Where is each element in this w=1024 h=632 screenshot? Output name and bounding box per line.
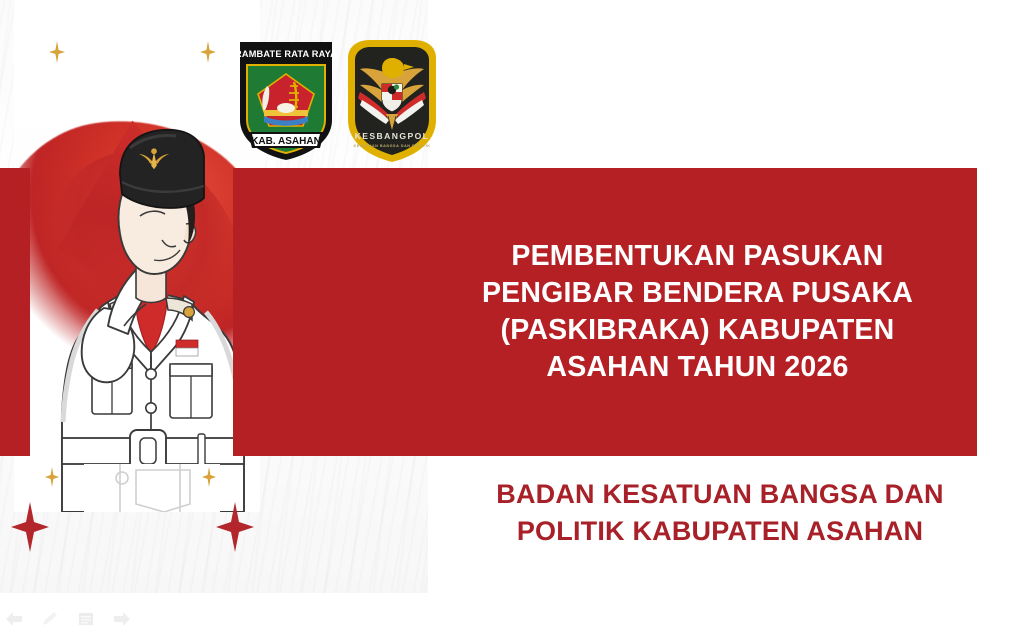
kesbangpol-emblem: KESBANGPOL KESATUAN BANGSA DAN POLITIK xyxy=(344,36,440,164)
title-line-3: (PASKIBRAKA) KABUPATEN xyxy=(418,312,977,349)
title-line-1: PEMBENTUKAN PASUKAN xyxy=(418,238,977,275)
forward-arrow-icon[interactable] xyxy=(112,609,132,629)
poster-subtitle: BADAN KESATUAN BANGSA DAN POLITIK KABUPA… xyxy=(440,476,1000,551)
back-arrow-icon[interactable] xyxy=(4,609,24,629)
left-red-accent-bar xyxy=(0,168,30,456)
subtitle-line-2: POLITIK KABUPATEN ASAHAN xyxy=(440,513,1000,550)
kesbangpol-label-text: KESBANGPOL xyxy=(355,131,430,141)
title-line-2: PENGIBAR BENDERA PUSAKA xyxy=(418,275,977,312)
paskibraka-saluting-figure xyxy=(58,112,248,512)
title-line-4: ASAHAN TAHUN 2026 xyxy=(418,349,977,386)
kesbangpol-tagline-text: KESATUAN BANGSA DAN POLITIK xyxy=(354,144,431,148)
poster-title: PEMBENTUKAN PASUKAN PENGIBAR BENDERA PUS… xyxy=(418,238,977,386)
poster-canvas: RAMBATE RATA RAYA KAB. ASAHAN xyxy=(0,0,1024,632)
bottom-toolbar[interactable] xyxy=(4,606,132,632)
kab-asahan-emblem: RAMBATE RATA RAYA KAB. ASAHAN xyxy=(234,36,338,164)
pencil-edit-icon[interactable] xyxy=(40,609,60,629)
asahan-label-text: KAB. ASAHAN xyxy=(251,136,321,147)
list-lines-icon[interactable] xyxy=(76,609,96,629)
asahan-motto-text: RAMBATE RATA RAYA xyxy=(235,49,337,59)
subtitle-line-1: BADAN KESATUAN BANGSA DAN xyxy=(440,476,1000,513)
title-banner: PEMBENTUKAN PASUKAN PENGIBAR BENDERA PUS… xyxy=(233,168,977,456)
